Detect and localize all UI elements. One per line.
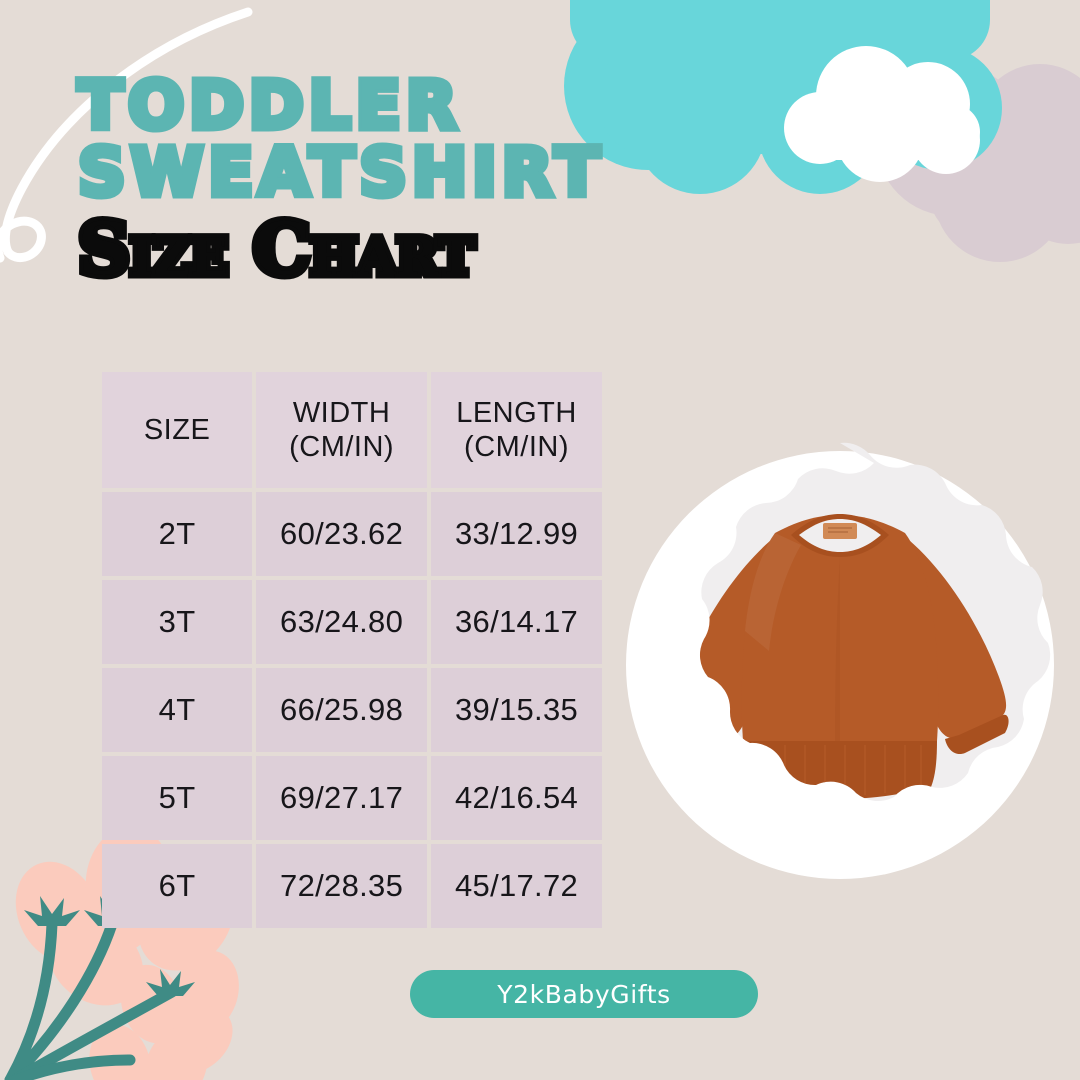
table-header-row: SIZE WIDTH (CM/IN) LENGTH (CM/IN) (102, 372, 602, 488)
product-image (625, 415, 1055, 915)
title-subtitle: Size Chart (78, 213, 778, 285)
title-line-1: TODDLER (78, 74, 778, 137)
cell-length: 39/15.35 (431, 668, 602, 752)
cell-length: 33/12.99 (431, 492, 602, 576)
cell-width: 60/23.62 (256, 492, 427, 576)
cell-width: 72/28.35 (256, 844, 427, 928)
cell-width: 63/24.80 (256, 580, 427, 664)
cloud-white-icon (784, 46, 980, 182)
cell-length: 45/17.72 (431, 844, 602, 928)
table-body: 2T 60/23.62 33/12.99 3T 63/24.80 36/14.1… (102, 492, 602, 928)
cell-size: 4T (102, 668, 252, 752)
column-header-length: LENGTH (CM/IN) (431, 372, 602, 488)
column-header-size: SIZE (102, 372, 252, 488)
cell-length: 36/14.17 (431, 580, 602, 664)
cell-width: 66/25.98 (256, 668, 427, 752)
cell-size: 5T (102, 756, 252, 840)
cell-length: 42/16.54 (431, 756, 602, 840)
cloud-mauve-icon (876, 64, 1080, 262)
size-chart-table: SIZE WIDTH (CM/IN) LENGTH (CM/IN) 2T 60/… (98, 368, 606, 932)
column-header-width: WIDTH (CM/IN) (256, 372, 427, 488)
table-row: 6T 72/28.35 45/17.72 (102, 844, 602, 928)
column-header-length-line2: (CM/IN) (431, 430, 602, 464)
page-title: TODDLER SWEATSHIRT Size Chart (78, 74, 778, 285)
cell-width: 69/27.17 (256, 756, 427, 840)
column-header-width-line1: WIDTH (256, 396, 427, 430)
column-header-width-line2: (CM/IN) (256, 430, 427, 464)
cell-size: 6T (102, 844, 252, 928)
table-header: SIZE WIDTH (CM/IN) LENGTH (CM/IN) (102, 372, 602, 488)
cell-size: 2T (102, 492, 252, 576)
table-row: 2T 60/23.62 33/12.99 (102, 492, 602, 576)
column-header-length-line1: LENGTH (431, 396, 602, 430)
brand-badge[interactable]: Y2kBabyGifts (410, 970, 758, 1018)
cell-size: 3T (102, 580, 252, 664)
title-line-2: SWEATSHIRT (78, 141, 778, 204)
column-header-size-line1: SIZE (102, 413, 252, 447)
table-row: 4T 66/25.98 39/15.35 (102, 668, 602, 752)
table-row: 3T 63/24.80 36/14.17 (102, 580, 602, 664)
table-row: 5T 69/27.17 42/16.54 (102, 756, 602, 840)
brand-name: Y2kBabyGifts (497, 980, 671, 1009)
